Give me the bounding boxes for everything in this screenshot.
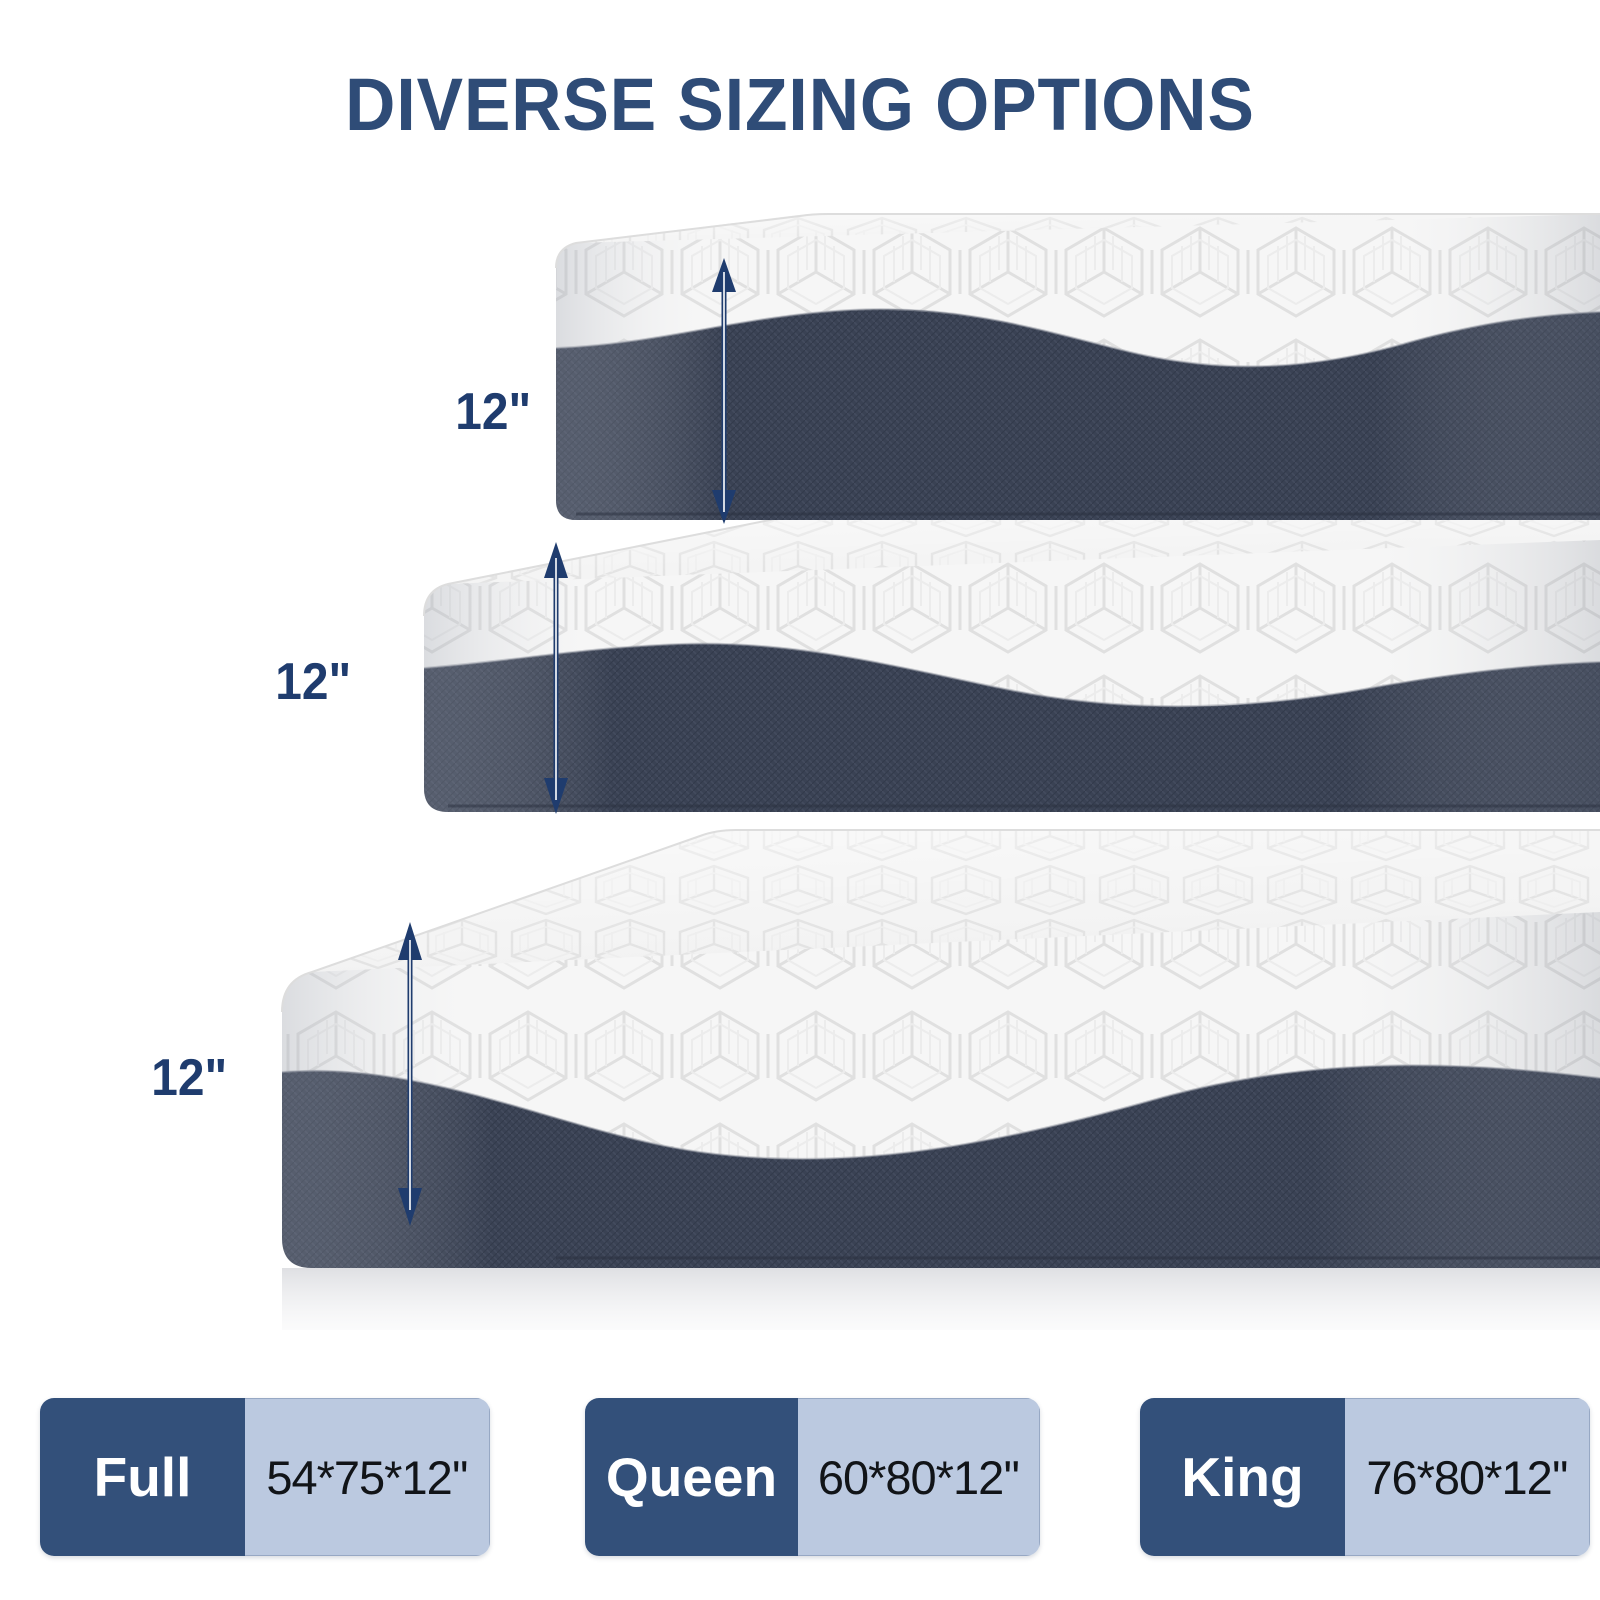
size-badge-full-dimensions: 54*75*12'' [245,1398,490,1556]
size-badge-full-name: Full [40,1398,245,1556]
infographic-canvas: DIVERSE SIZING OPTIONS [0,0,1600,1600]
height-label-bottom: 12" [151,1052,227,1104]
size-badge-king-name: King [1140,1398,1345,1556]
size-badge-row: Full 54*75*12'' Queen 60*80*12'' King 76… [0,1398,1600,1558]
height-label-top: 12" [455,386,531,438]
mattress-bottom [282,830,1600,1280]
mattress-stack-illustration [0,0,1600,1330]
size-badge-queen[interactable]: Queen 60*80*12'' [585,1398,1040,1556]
size-badge-queen-dimensions: 60*80*12'' [798,1398,1040,1556]
size-badge-queen-name: Queen [585,1398,798,1556]
height-label-middle: 12" [275,656,351,708]
mattress-top [556,210,1600,530]
size-badge-king[interactable]: King 76*80*12'' [1140,1398,1590,1556]
mattress-middle [424,512,1600,840]
size-badge-king-dimensions: 76*80*12'' [1345,1398,1590,1556]
size-badge-full[interactable]: Full 54*75*12'' [40,1398,490,1556]
